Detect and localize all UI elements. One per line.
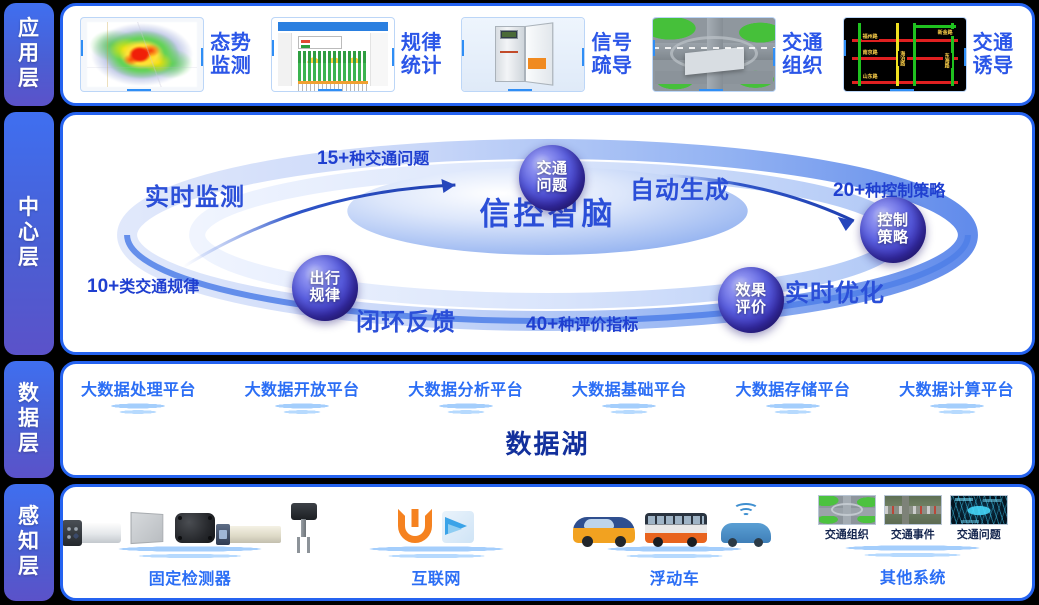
ripple-icon <box>911 403 1003 417</box>
tab-char: 心 <box>18 221 40 246</box>
app-card-situation-monitoring[interactable]: 态势 监测 <box>81 18 251 91</box>
data-lake-label: 数据湖 <box>505 424 589 461</box>
street-label: 新金路 <box>937 29 954 36</box>
stage-ellipse-icon <box>334 545 539 561</box>
box-camera-icon <box>225 526 281 543</box>
tab-char: 据 <box>18 407 40 432</box>
tab-char: 知 <box>18 530 40 555</box>
app-card-traffic-organization[interactable]: 交通 组织 <box>653 18 823 91</box>
device-list <box>573 495 775 543</box>
layer-tab-data[interactable]: 数 据 层 <box>4 361 54 478</box>
platform-label: 大数据处理平台 <box>81 376 196 400</box>
ripple-icon <box>420 403 512 417</box>
app-card-pattern-statistics[interactable]: 规律 统计 <box>272 18 442 91</box>
perception-layer-panel: 固定检测器 互联网 <box>60 484 1035 601</box>
connected-car-icon <box>717 503 775 543</box>
map-app-icon <box>442 511 474 543</box>
app-card-label: 交通 诱导 <box>973 32 1014 78</box>
center-layer-row: 中 心 层 <box>4 112 1035 355</box>
flow-label-real-time-optimization: 实时优化 <box>785 273 885 308</box>
traffic-organization-thumbnail <box>818 495 876 525</box>
tab-char: 层 <box>18 432 40 457</box>
node-control-strategy[interactable]: 控制 策略 <box>860 197 926 263</box>
other-system-label: 交通问题 <box>957 526 1001 542</box>
perception-group-label: 固定检测器 <box>149 565 232 589</box>
platform-item[interactable]: 大数据基础平台 <box>572 376 687 417</box>
device-list <box>398 495 474 543</box>
platform-label: 大数据分析平台 <box>408 376 523 400</box>
pole-camera-icon <box>291 503 317 543</box>
traffic-event-thumbnail <box>884 495 942 525</box>
street-label: 山东路 <box>862 73 879 80</box>
ripple-icon <box>583 403 675 417</box>
signal-brain-orbit-diagram: 信控智脑 交通 问题 控制 策略 效果 评价 出行 规律 <box>63 115 1032 352</box>
platform-label: 大数据基础平台 <box>572 376 687 400</box>
perception-group-other-systems: 交通组织 交通事件 交通问题 其他系统 <box>794 487 1032 598</box>
layer-tab-perception[interactable]: 感 知 层 <box>4 484 54 601</box>
platform-item[interactable]: 大数据计算平台 <box>899 376 1014 417</box>
perception-group-label: 其他系统 <box>880 564 946 588</box>
tab-char: 层 <box>18 246 40 271</box>
stage-ellipse-icon <box>810 544 1015 560</box>
platform-item[interactable]: 大数据分析平台 <box>408 376 523 417</box>
app-card-label: 信号 疏导 <box>591 32 632 78</box>
application-layer-panel: 态势 监测 规律 统计 <box>60 3 1035 106</box>
tab-char: 中 <box>18 196 40 221</box>
interchange-thumbnail <box>653 18 775 91</box>
layer-tab-center[interactable]: 中 心 层 <box>4 112 54 355</box>
tab-char: 层 <box>18 67 40 92</box>
platform-label: 大数据存储平台 <box>736 376 851 400</box>
ripple-icon <box>92 403 184 417</box>
other-system-label: 交通组织 <box>825 526 869 542</box>
count-traffic-problem: 15+种交通问题 <box>317 145 429 170</box>
node-effect-evaluation[interactable]: 效果 评价 <box>718 267 784 333</box>
count-evaluation-index: 40+种评价指标 <box>526 311 638 336</box>
perception-layer-row: 感 知 层 固定检测器 <box>4 484 1035 601</box>
other-system-label: 交通事件 <box>891 526 935 542</box>
application-layer-row: 应 用 层 态势 监测 <box>4 3 1035 106</box>
tab-char: 应 <box>18 17 40 42</box>
app-card-label: 规律 统计 <box>401 32 442 78</box>
tab-char: 用 <box>18 42 40 67</box>
count-traffic-pattern: 10+类交通规律 <box>87 273 199 298</box>
guidance-board-thumbnail: 福州路 新金路 南京路 东海路 山东路 海泊路 <box>844 18 966 91</box>
ripple-icon <box>256 403 348 417</box>
perception-group-floating-vehicles: 浮动车 <box>555 487 793 598</box>
tab-char: 数 <box>18 382 40 407</box>
didi-logo-icon <box>398 509 432 543</box>
data-layer-panel: 大数据处理平台 大数据开放平台 大数据分析平台 大数据基础平台 大数据存储平台 <box>60 361 1035 478</box>
app-card-label: 态势 监测 <box>210 32 251 78</box>
data-layer-row: 数 据 层 大数据处理平台 大数据开放平台 大数据分析平台 大数据基础 <box>4 361 1035 478</box>
bullet-camera-icon <box>63 523 121 543</box>
platform-label: 大数据开放平台 <box>245 376 360 400</box>
node-travel-pattern[interactable]: 出行 规律 <box>292 255 358 321</box>
street-label: 海泊路 <box>898 51 907 66</box>
tab-char: 层 <box>18 555 40 580</box>
taxi-icon <box>573 517 635 543</box>
architecture-diagram: 应 用 层 态势 监测 <box>0 0 1039 605</box>
street-label: 东海路 <box>943 53 952 68</box>
flat-panel-detector-icon <box>130 512 163 544</box>
stage-ellipse-icon <box>572 545 777 561</box>
stage-ellipse-icon <box>81 545 299 561</box>
platform-label: 大数据计算平台 <box>899 376 1014 400</box>
flow-label-closed-loop-feedback: 闭环反馈 <box>356 302 456 337</box>
flow-label-auto-generation: 自动生成 <box>630 170 730 205</box>
device-list <box>63 495 317 543</box>
perception-group-internet: 互联网 <box>317 487 555 598</box>
app-card-signal-coordination[interactable]: 信号 疏导 <box>462 18 632 91</box>
other-system-traffic-organization[interactable]: 交通组织 <box>818 495 876 542</box>
ripple-icon <box>747 403 839 417</box>
street-label: 南京路 <box>862 49 879 56</box>
platform-item[interactable]: 大数据存储平台 <box>736 376 851 417</box>
other-systems-list: 交通组织 交通事件 交通问题 <box>818 495 1008 542</box>
traffic-problem-thumbnail <box>950 495 1008 525</box>
heatmap-thumbnail <box>81 18 203 91</box>
other-system-traffic-event[interactable]: 交通事件 <box>884 495 942 542</box>
perception-group-label: 互联网 <box>411 565 461 589</box>
perception-group-label: 浮动车 <box>650 565 700 589</box>
app-card-label: 交通 组织 <box>782 32 823 78</box>
platform-item[interactable]: 大数据处理平台 <box>81 376 196 417</box>
perception-group-fixed-detectors: 固定检测器 <box>63 487 317 598</box>
chart-report-thumbnail <box>272 18 394 91</box>
platform-strip: 大数据处理平台 大数据开放平台 大数据分析平台 大数据基础平台 大数据存储平台 <box>77 376 1018 417</box>
signal-cabinet-thumbnail <box>462 18 584 91</box>
node-traffic-problem[interactable]: 交通 问题 <box>519 145 585 211</box>
street-label: 福州路 <box>862 33 879 40</box>
flow-label-real-time-monitoring: 实时监测 <box>145 177 245 212</box>
app-card-traffic-guidance[interactable]: 福州路 新金路 南京路 东海路 山东路 海泊路 交通 诱导 <box>844 18 1014 91</box>
center-layer-panel: 信控智脑 交通 问题 控制 策略 效果 评价 出行 规律 <box>60 112 1035 355</box>
dome-sensor-icon <box>175 513 215 543</box>
tab-char: 感 <box>18 505 40 530</box>
bus-icon <box>645 513 707 543</box>
layer-tab-application[interactable]: 应 用 层 <box>4 3 54 106</box>
other-system-traffic-problem[interactable]: 交通问题 <box>950 495 1008 542</box>
platform-item[interactable]: 大数据开放平台 <box>245 376 360 417</box>
